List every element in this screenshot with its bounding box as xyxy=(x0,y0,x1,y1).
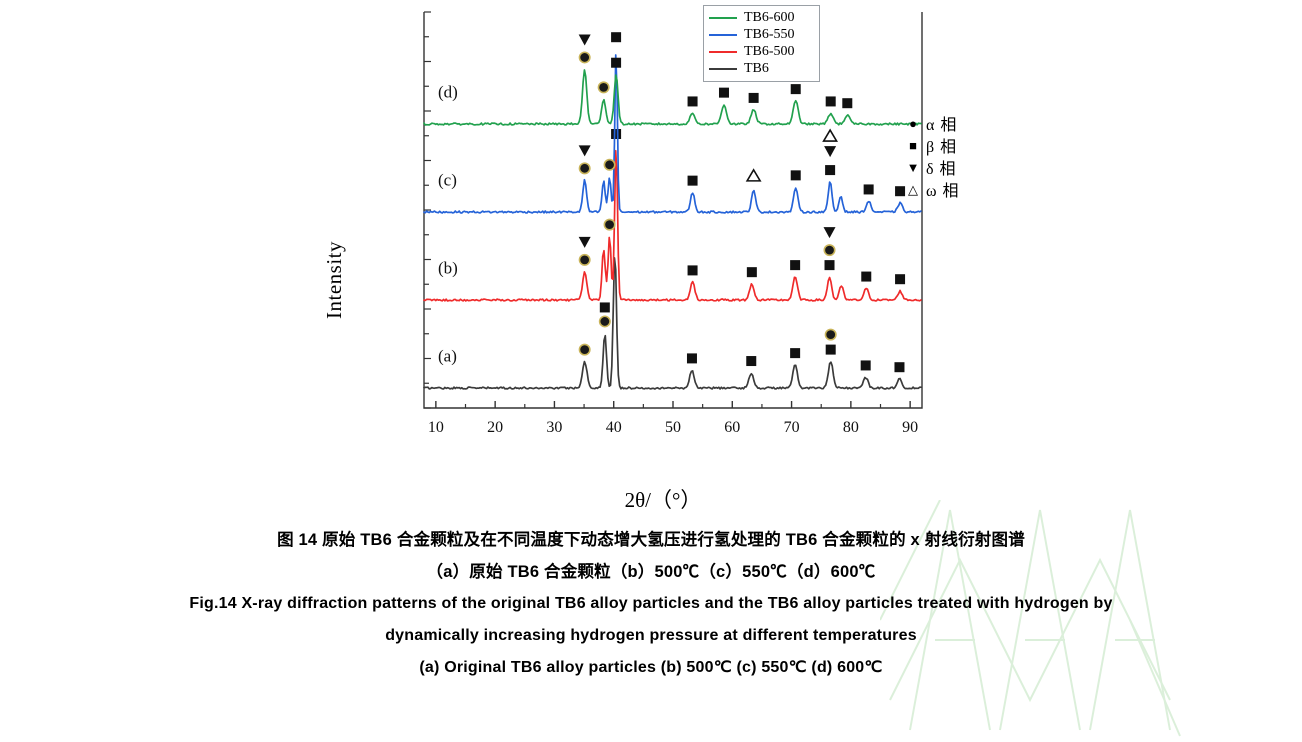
svg-text:70: 70 xyxy=(784,419,800,434)
phase-key-label: α 相 xyxy=(926,111,957,135)
alpha-phase-marker-icon: ● xyxy=(903,117,923,130)
caption-line-3: Fig.14 X-ray diffraction patterns of the… xyxy=(0,588,1302,620)
legend: TB6-600 TB6-550 TB6-500 TB6 xyxy=(703,5,820,82)
svg-text:(d): (d) xyxy=(438,83,458,102)
phase-key-label: β 相 xyxy=(926,133,957,157)
legend-label: TB6-500 xyxy=(744,45,795,59)
legend-item: TB6-500 xyxy=(709,43,814,60)
svg-text:(c): (c) xyxy=(438,171,457,190)
phase-key-item: ● α 相 xyxy=(903,112,1013,134)
legend-label: TB6-600 xyxy=(744,11,795,25)
y-axis-label: Intensity xyxy=(322,0,352,160)
svg-text:60: 60 xyxy=(724,419,740,434)
svg-text:20: 20 xyxy=(487,419,503,434)
phase-key-label: δ 相 xyxy=(926,155,957,179)
legend-swatch-tb6-550 xyxy=(709,34,737,36)
omega-phase-marker-icon: △ xyxy=(903,183,923,196)
legend-item: TB6-600 xyxy=(709,9,814,26)
beta-phase-marker-icon: ■ xyxy=(903,139,923,152)
xrd-figure: Intensity 102030405060708090(a)(b)(c)(d)… xyxy=(0,0,1302,520)
svg-text:(b): (b) xyxy=(438,259,458,278)
phase-key-item: ▼ δ 相 xyxy=(903,156,1013,178)
phase-key-label: ω 相 xyxy=(926,177,960,201)
svg-text:50: 50 xyxy=(665,419,681,434)
svg-text:30: 30 xyxy=(546,419,562,434)
legend-swatch-tb6-500 xyxy=(709,51,737,53)
delta-phase-marker-icon: ▼ xyxy=(903,161,923,174)
caption-line-5: (a) Original TB6 alloy particles (b) 500… xyxy=(0,652,1302,684)
svg-text:(a): (a) xyxy=(438,347,457,366)
caption-line-1: 图 14 原始 TB6 合金颗粒及在不同温度下动态增大氢压进行氢处理的 TB6 … xyxy=(0,524,1302,556)
legend-item: TB6 xyxy=(709,60,814,77)
svg-text:10: 10 xyxy=(428,419,444,434)
legend-item: TB6-550 xyxy=(709,26,814,43)
legend-swatch-tb6-600 xyxy=(709,17,737,19)
figure-page: Intensity 102030405060708090(a)(b)(c)(d)… xyxy=(0,0,1302,737)
figure-caption: 图 14 原始 TB6 合金颗粒及在不同温度下动态增大氢压进行氢处理的 TB6 … xyxy=(0,524,1302,684)
x-axis-label: 2θ/（°） xyxy=(396,484,930,514)
legend-label: TB6 xyxy=(744,62,769,76)
caption-line-2: （a）原始 TB6 合金颗粒（b）500℃（c）550℃（d）600℃ xyxy=(0,556,1302,588)
svg-text:90: 90 xyxy=(902,419,918,434)
phase-key: ● α 相 ■ β 相 ▼ δ 相 △ ω 相 xyxy=(903,112,1013,200)
phase-key-item: ■ β 相 xyxy=(903,134,1013,156)
xrd-plot-svg: 102030405060708090(a)(b)(c)(d) xyxy=(396,6,930,434)
svg-text:40: 40 xyxy=(606,419,622,434)
phase-key-item: △ ω 相 xyxy=(903,178,1013,200)
legend-swatch-tb6 xyxy=(709,68,737,70)
caption-line-4: dynamically increasing hydrogen pressure… xyxy=(0,620,1302,652)
plot-area: 102030405060708090(a)(b)(c)(d) xyxy=(396,6,930,434)
legend-label: TB6-550 xyxy=(744,28,795,42)
svg-text:80: 80 xyxy=(843,419,859,434)
